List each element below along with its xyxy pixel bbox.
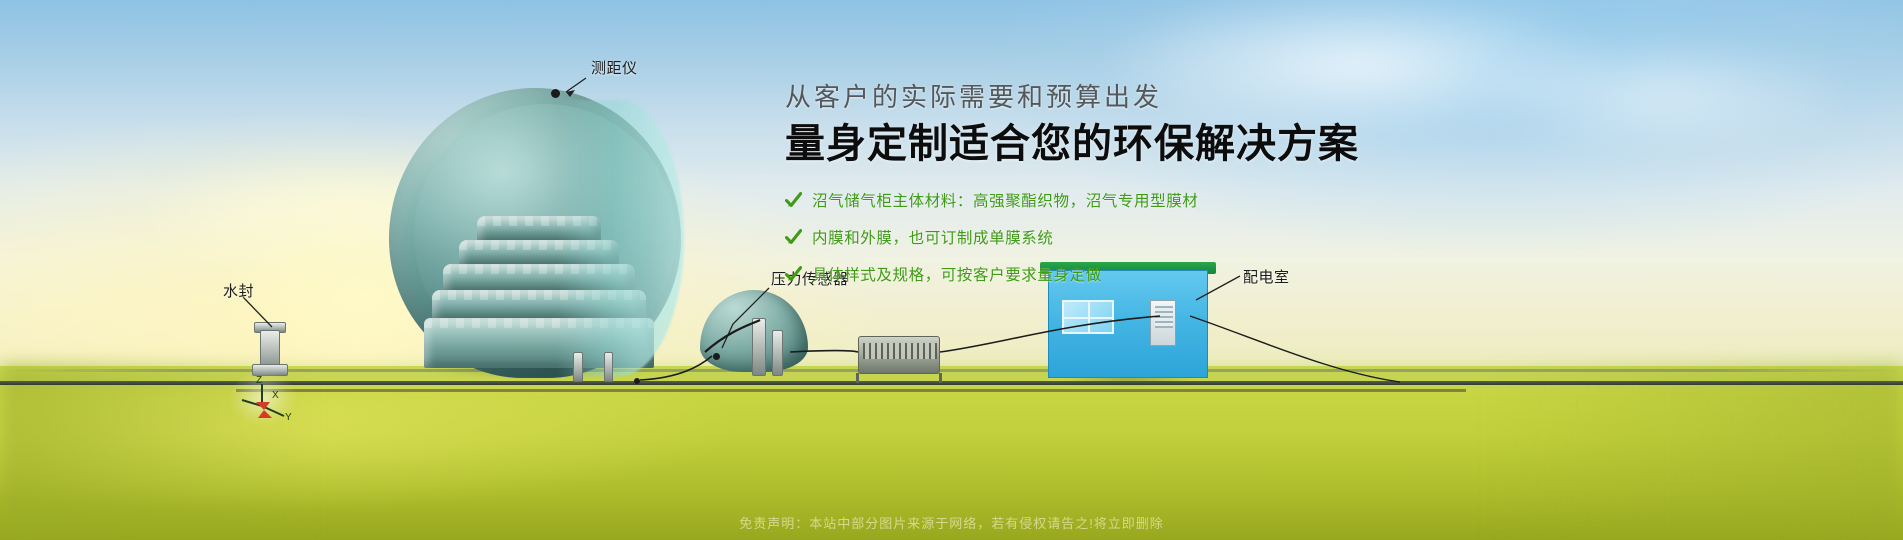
label-water-seal: 水封 <box>223 280 254 301</box>
check-icon <box>785 266 802 283</box>
marketing-copy-block: 从客户的实际需要和预算出发 量身定制适合您的环保解决方案 沼气储气柜主体材料：高… <box>785 82 1485 300</box>
banner-stage: Z Y X 测距仪 水封 压力传感器 配电室 从客户的实际需要和预算出发 量身定… <box>0 0 1903 540</box>
check-icon <box>785 229 802 246</box>
label-rangefinder: 测距仪 <box>591 57 638 78</box>
bullet-text: 沼气储气柜主体材料：高强聚酯织物，沼气专用型膜材 <box>812 189 1198 211</box>
banner-subheadline: 从客户的实际需要和预算出发 <box>785 82 1485 113</box>
feature-bullet-list: 沼气储气柜主体材料：高强聚酯织物，沼气专用型膜材 内膜和外膜，也可订制成单膜系统 <box>785 189 1485 285</box>
disclaimer-text: 免责声明：本站中部分图片来源于网络，若有侵权请告之!将立即删除 <box>0 513 1903 532</box>
axis-label-z: Z <box>256 375 262 386</box>
axis-label-y: Y <box>285 412 292 423</box>
list-item: 内膜和外膜，也可订制成单膜系统 <box>785 226 1485 248</box>
rangefinder-device <box>551 89 560 98</box>
axis-label-x: X <box>272 390 279 401</box>
sensor-node <box>713 353 720 360</box>
check-icon <box>785 192 802 209</box>
list-item: 具体样式及规格，可按客户要求量身定做 <box>785 263 1485 285</box>
bullet-text: 内膜和外膜，也可订制成单膜系统 <box>812 226 1054 248</box>
banner-headline: 量身定制适合您的环保解决方案 <box>785 121 1485 167</box>
pipe-node <box>634 378 640 384</box>
bullet-text: 具体样式及规格，可按客户要求量身定做 <box>812 263 1102 285</box>
list-item: 沼气储气柜主体材料：高强聚酯织物，沼气专用型膜材 <box>785 189 1485 211</box>
axis-gizmo: Z Y X <box>228 370 298 440</box>
